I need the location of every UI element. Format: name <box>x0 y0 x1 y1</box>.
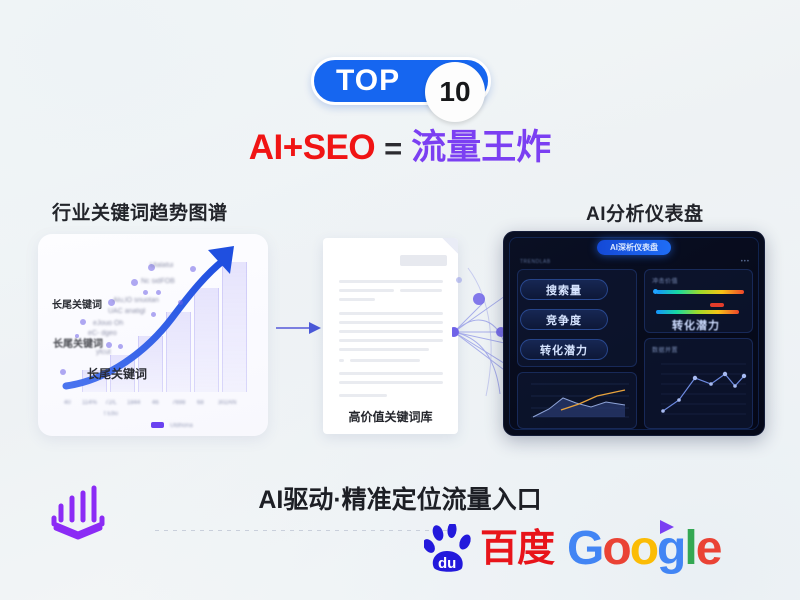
page-fold-icon <box>442 238 458 254</box>
google-letter-e: e <box>696 525 721 573</box>
gauge-bar <box>656 310 739 314</box>
google-letter-o2: o <box>630 525 657 573</box>
area-chart <box>521 376 633 426</box>
legend-label: Utdhona <box>170 423 193 429</box>
doc-text-line <box>339 298 375 301</box>
axis-tick: 1844 <box>127 400 140 406</box>
keyword-library-document: 高价值关键词库 <box>323 238 458 434</box>
doc-text-line <box>339 312 443 315</box>
divider-dashed <box>155 530 455 531</box>
badge-number: 10 <box>439 78 470 106</box>
doc-text-line <box>339 394 387 397</box>
axis-tick: 40 <box>64 400 71 406</box>
dashboard-menu-icon[interactable]: ••• <box>741 259 750 265</box>
chart-blur-text: eJouo Oh <box>93 320 123 327</box>
ai-dashboard-panel: AI深析仪表盘 TRENDLAB ••• 搜索量 竞争度 转化潜力 冲击价值 转… <box>503 231 765 436</box>
keyword-label: 长尾关键词 <box>87 365 147 382</box>
axis-tick: 7698 <box>172 400 185 406</box>
chart-blur-text: yfcut <box>96 349 111 356</box>
slide-canvas: TOP 10 AI+SEO=流量王炸 行业关键词趋势图谱 AI分析仪表盘 <box>0 0 800 600</box>
gauge-overlay-label: 转化潜力 <box>672 317 720 333</box>
axis-tick: 72/L <box>105 400 117 406</box>
doc-text-line <box>339 348 429 351</box>
chart-plot-area: Ulalatui Nc sidFOB Alu,lO snuotan UAC an… <box>38 234 268 436</box>
google-letter-l: l <box>684 525 695 573</box>
scatter-dot <box>131 279 138 286</box>
page-title: AI+SEO=流量王炸 <box>0 128 800 168</box>
dashboard-title-pill: AI深析仪表盘 <box>597 240 671 255</box>
baidu-paw-icon: du <box>424 524 478 574</box>
doc-header-block <box>400 255 447 266</box>
keyword-label: 长尾关键词 <box>52 296 102 311</box>
doc-bullet-icon <box>339 359 344 362</box>
doc-text-line <box>339 381 443 384</box>
play-arrow-icon <box>657 518 677 536</box>
badge-label: TOP <box>336 66 400 96</box>
bar-chart-icon <box>47 484 109 542</box>
doc-text-line <box>339 330 443 333</box>
headline-left: AI+SEO <box>249 128 375 167</box>
doc-text-line <box>339 280 443 283</box>
search-engine-logos: du 百度 G o o g l e <box>424 524 720 574</box>
legend-swatch <box>151 422 164 428</box>
scatter-dot <box>156 290 161 295</box>
baidu-chinese-label: 百度 <box>480 530 554 568</box>
metric-button-conversion[interactable]: 转化潜力 <box>520 339 608 360</box>
chart-blur-text: UAC anatigl <box>108 308 145 315</box>
chart-blur-text: Nc sidFOB <box>141 278 175 285</box>
chart-blur-text: Ulalatui <box>150 262 173 269</box>
metric-button-competition[interactable]: 竞争度 <box>520 309 608 330</box>
line-chart <box>649 356 749 426</box>
section-title-dashboard: AI分析仪表盘 <box>586 199 704 226</box>
dashboard-brand: TRENDLAB <box>520 259 551 265</box>
top-rank-badge: TOP 10 <box>311 57 491 105</box>
keyword-label: 长尾关键词 <box>53 335 103 350</box>
doc-text-line <box>350 359 420 362</box>
axis-tick: 302AN <box>218 400 236 406</box>
line-panel-title: 数据并置 <box>652 345 678 354</box>
scatter-dot <box>60 369 66 375</box>
scatter-dot <box>151 312 156 317</box>
baidu-latin-label: du <box>438 555 456 572</box>
axis-caption: t Ebu <box>104 411 118 417</box>
document-label: 高价值关键词库 <box>348 408 432 425</box>
doc-text-line <box>339 289 394 292</box>
doc-text-line <box>400 289 442 292</box>
headline-right: 流量王炸 <box>411 128 551 167</box>
doc-text-line <box>339 321 443 324</box>
doc-text-line <box>339 339 443 342</box>
chart-blur-text: Alu,lO snuotan <box>113 297 159 304</box>
scatter-dot <box>143 290 148 295</box>
gauge-bar <box>656 290 744 294</box>
gauge-panel-title: 冲击价值 <box>652 276 678 285</box>
bottom-tagline: AI驱动·精准定位流量入口 <box>0 480 800 516</box>
scatter-dot <box>106 342 112 348</box>
doc-text-line <box>339 372 443 375</box>
axis-tick: 46 <box>152 400 159 406</box>
gauge-knob[interactable] <box>653 289 658 294</box>
scatter-dot <box>118 344 123 349</box>
badge-circle: 10 <box>425 62 485 122</box>
google-logo: G o o g l e <box>567 525 720 573</box>
flow-arrow-icon <box>276 320 322 336</box>
scatter-dot <box>80 319 86 325</box>
gauge-marker <box>710 303 724 307</box>
google-letter-o1: o <box>602 525 629 573</box>
scatter-dot <box>178 300 183 305</box>
google-letter-g1: G <box>567 525 602 573</box>
axis-tick: 114% <box>82 400 97 406</box>
trend-chart-card: Ulalatui Nc sidFOB Alu,lO snuotan UAC an… <box>38 234 268 436</box>
metric-button-search-volume[interactable]: 搜索量 <box>520 279 608 300</box>
axis-tick: 68 <box>197 400 204 406</box>
section-title-trend: 行业关键词趋势图谱 <box>52 198 228 225</box>
scatter-dot <box>190 266 196 272</box>
headline-equals: = <box>384 131 402 166</box>
